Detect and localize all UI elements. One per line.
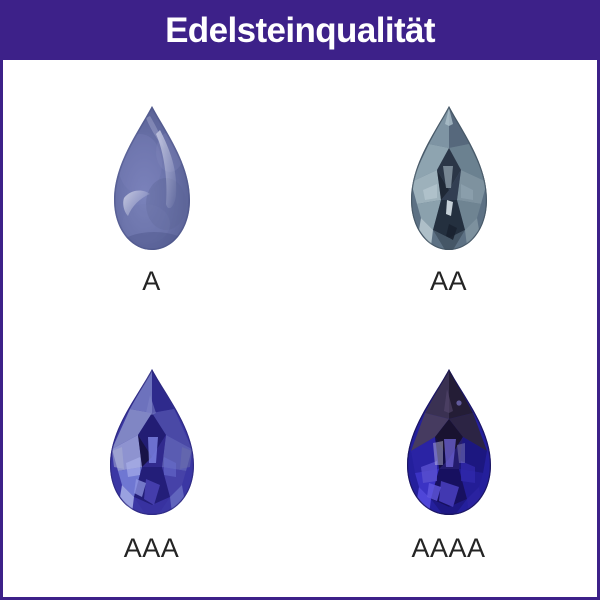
gemstone-pear-faceted-icon xyxy=(407,104,491,252)
gem-cell-aa[interactable]: AA xyxy=(300,60,597,329)
gem-grade-label: AAAA xyxy=(411,535,485,562)
gemstone-pear-faceted-icon xyxy=(106,367,198,517)
gemstone-grid: A xyxy=(3,60,597,597)
card-body: A xyxy=(0,60,600,600)
gemstone-pear-faceted-icon xyxy=(403,367,495,517)
gem-cell-aaaa[interactable]: AAAA xyxy=(300,329,597,598)
card-header: Edelsteinqualität xyxy=(0,0,600,60)
gem-grade-label: AAA xyxy=(124,535,180,562)
gem-grade-label: AA xyxy=(430,268,467,295)
gemstone-pear-cabochon-icon xyxy=(110,104,194,252)
gem-grade-label: A xyxy=(142,268,161,295)
gem-cell-aaa[interactable]: AAA xyxy=(3,329,300,598)
page-title: Edelsteinqualität xyxy=(165,13,435,48)
gemstone-quality-card: Edelsteinqualität xyxy=(0,0,600,600)
gem-cell-a[interactable]: A xyxy=(3,60,300,329)
